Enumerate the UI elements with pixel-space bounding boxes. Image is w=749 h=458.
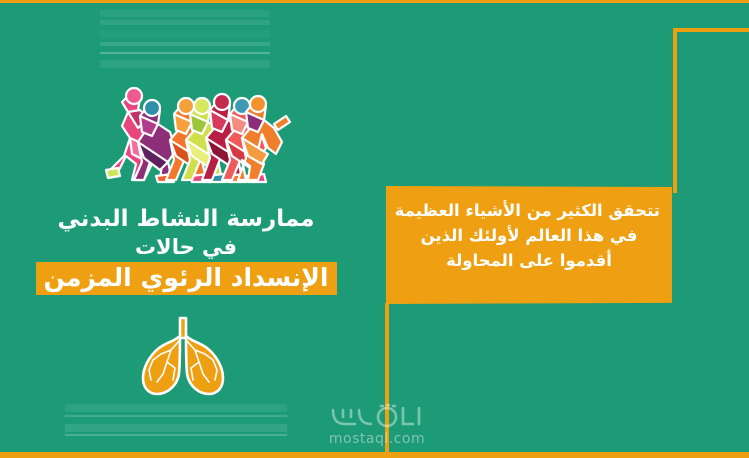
watermark: mostaql.com <box>318 404 436 450</box>
headline-line-2: في حالات <box>0 234 372 260</box>
headline-line-3-highlighted: الإنسداد الرئوي المزمن <box>36 262 337 295</box>
watermark-domain: mostaql.com <box>318 431 436 447</box>
quote-line-2: في هذا العالم لأولئك الذين <box>398 223 660 248</box>
quote-line-3: أقدموا على المحاولة <box>398 248 660 273</box>
quote-box: تتحقق الكثير من الأشياء العظيمة في هذا ا… <box>386 186 672 304</box>
frame-corner-horizontal-line <box>673 28 749 32</box>
poster-canvas: ممارسة النشاط البدني في حالات الإنسداد ا… <box>0 0 749 458</box>
decorative-stripes-top <box>100 8 270 78</box>
lungs-icon <box>133 316 233 398</box>
bottom-accent-bar <box>0 452 749 458</box>
runners-illustration <box>78 76 293 186</box>
frame-corner-vertical-line <box>673 28 677 193</box>
headline-block: ممارسة النشاط البدني في حالات الإنسداد ا… <box>0 206 372 295</box>
decorative-stripes-bottom <box>65 402 287 444</box>
headline-line-3-wrapper: الإنسداد الرئوي المزمن <box>0 262 372 295</box>
quote-line-1: تتحقق الكثير من الأشياء العظيمة <box>398 198 660 223</box>
mostaql-logo-icon <box>318 404 436 430</box>
headline-line-1: ممارسة النشاط البدني <box>0 206 372 234</box>
top-accent-bar <box>0 0 749 3</box>
